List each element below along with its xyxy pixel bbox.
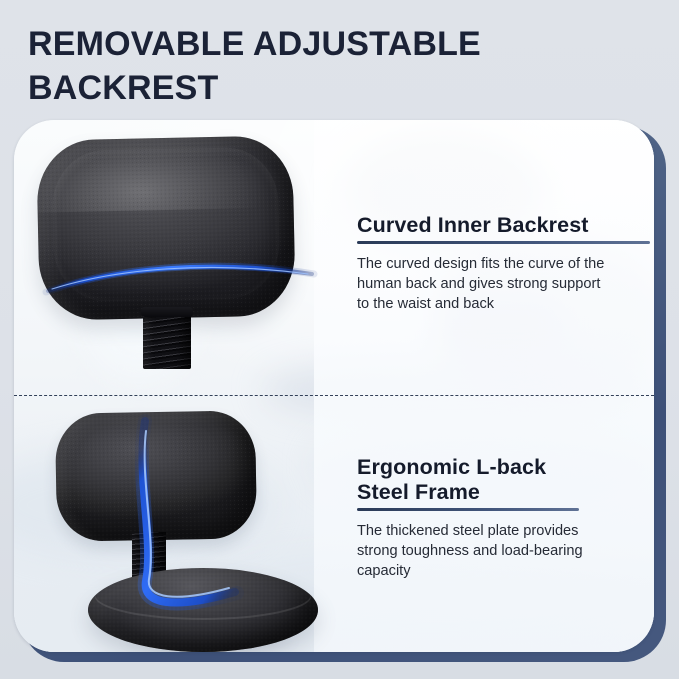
callout-curved-inner-backrest: Curved Inner Backrest The curved design … (357, 213, 654, 314)
seat-rim (95, 573, 311, 620)
section-divider (14, 395, 654, 396)
pad-edge (52, 146, 280, 302)
chair-seat-cushion (88, 568, 318, 652)
callout-title: Curved Inner Backrest (357, 213, 654, 238)
threaded-steel-post-upper (143, 313, 191, 369)
leather-grain-texture (88, 568, 318, 652)
page-title: REMOVABLE ADJUSTABLE BACKREST (28, 22, 628, 110)
card-body: Curved Inner Backrest The curved design … (14, 120, 654, 652)
backrest-pad-upper (36, 135, 296, 320)
callout-body: The thickened steel plate provides stron… (357, 521, 654, 581)
product-card: Curved Inner Backrest The curved design … (14, 120, 666, 662)
backrest-pad-lower (55, 410, 257, 541)
callout-underline (357, 508, 579, 511)
leather-grain-texture (36, 135, 296, 320)
infographic-root: REMOVABLE ADJUSTABLE BACKREST (0, 0, 679, 679)
callout-title: Ergonomic L-back Steel Frame (357, 455, 654, 505)
callout-body: The curved design fits the curve of the … (357, 254, 654, 314)
leather-grain-texture (55, 410, 257, 541)
callout-ergonomic-l-back-steel-frame: Ergonomic L-back Steel Frame The thicken… (357, 455, 654, 581)
callout-underline (357, 241, 650, 244)
pad-highlight (36, 135, 296, 213)
